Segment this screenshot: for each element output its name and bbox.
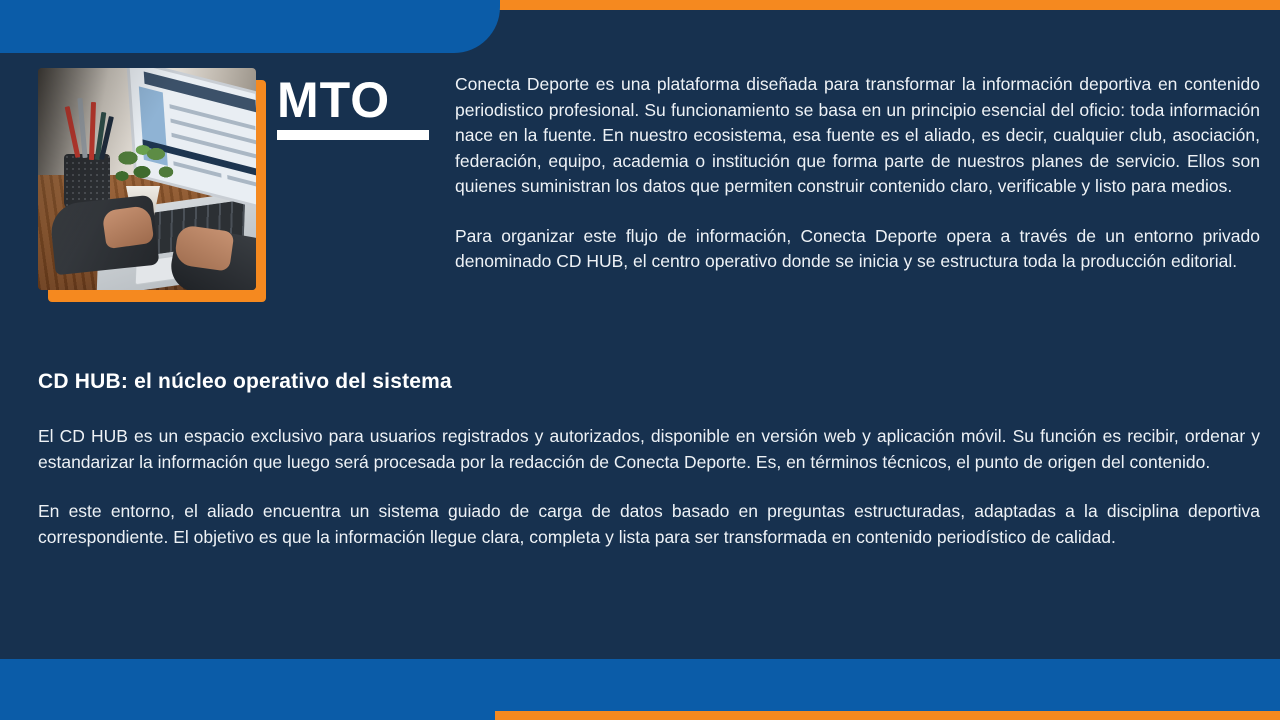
laptop-photo: [38, 68, 256, 290]
section-paragraph-1: El CD HUB es un espacio exclusivo para u…: [38, 424, 1260, 475]
brand-logo-text: MTO: [277, 74, 437, 126]
section-heading: CD HUB: el núcleo operativo del sistema: [38, 370, 938, 394]
slide-canvas: MTO Conecta Deporte es una plataforma di…: [0, 0, 1280, 720]
photo-screen-field-5: [227, 175, 256, 188]
bottom-blue-band-left: [0, 659, 478, 711]
bottom-blue-lower-left: [0, 711, 495, 720]
section-paragraph-2: En este entorno, el aliado encuentra un …: [38, 499, 1260, 550]
photo-plant-leaves: [112, 142, 178, 192]
brand-logo-underline: [277, 130, 429, 140]
intro-text-block: Conecta Deporte es una plataforma diseña…: [455, 72, 1260, 275]
intro-paragraph-2: Para organizar este flujo de información…: [455, 224, 1260, 275]
hero-image-block: [38, 68, 266, 302]
top-blue-accent-shape: [0, 0, 500, 53]
photo-left-hand: [102, 205, 155, 249]
intro-paragraph-1: Conecta Deporte es una plataforma diseña…: [455, 72, 1260, 200]
section-text-block: El CD HUB es un espacio exclusivo para u…: [38, 424, 1260, 550]
brand-logo: MTO: [277, 74, 437, 140]
